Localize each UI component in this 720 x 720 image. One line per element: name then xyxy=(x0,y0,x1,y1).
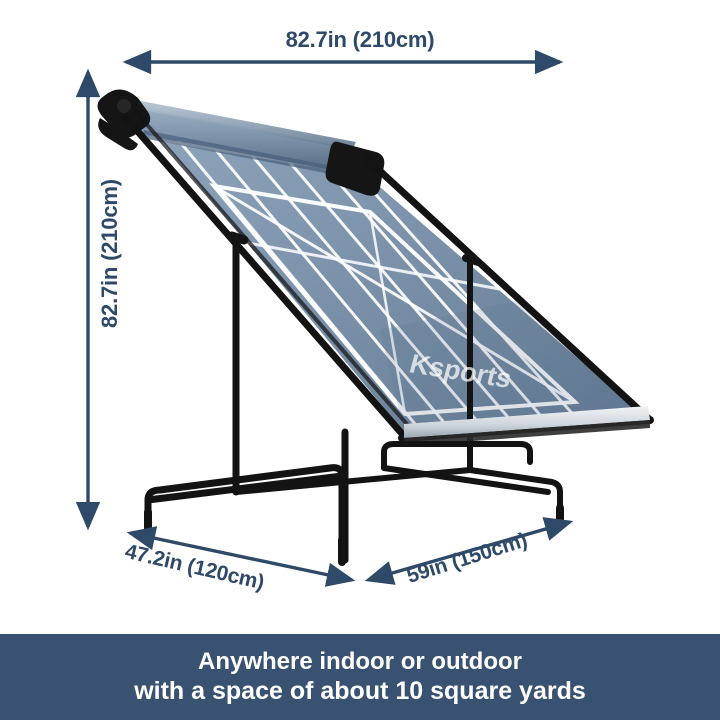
dimension-label-width: 82.7in (210cm) xyxy=(0,27,720,53)
product-dimension-diagram: Ksports 82.7in (210cm) 82.7in (210cm) 47… xyxy=(0,0,720,720)
bottom-caption-banner: Anywhere indoor or outdoor with a space … xyxy=(0,634,720,720)
dimension-label-height: 82.7in (210cm) xyxy=(97,208,123,328)
caption-line-1: Anywhere indoor or outdoor xyxy=(198,647,522,676)
caption-line-2: with a space of about 10 square yards xyxy=(134,676,586,707)
dimension-arrows xyxy=(0,0,720,720)
